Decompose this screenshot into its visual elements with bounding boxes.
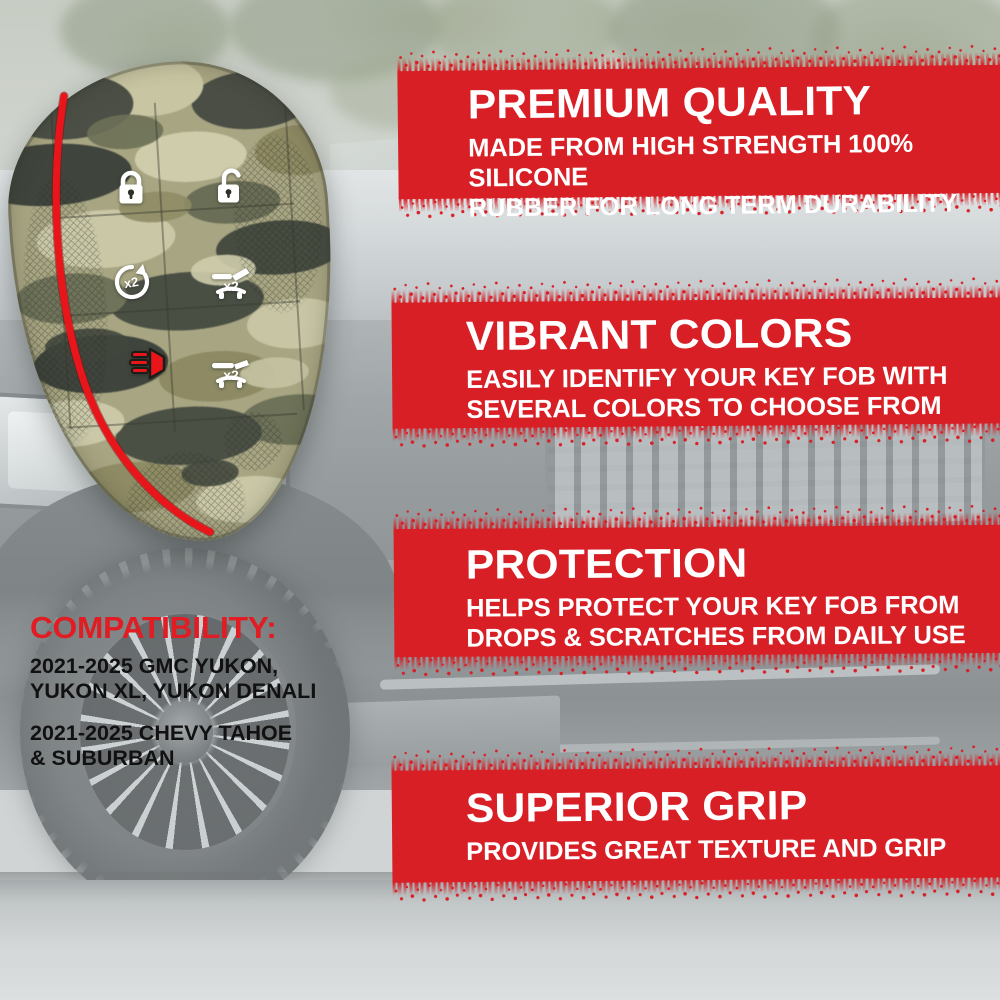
compatibility-line: & SUBURBAN bbox=[30, 746, 380, 771]
svg-text:x2: x2 bbox=[223, 278, 239, 294]
compatibility-line: 2021-2025 CHEVY TAHOE bbox=[30, 721, 380, 746]
feature-title: PREMIUM QUALITY bbox=[467, 79, 1000, 126]
liftgate-button[interactable]: x2 bbox=[206, 264, 256, 308]
compatibility-block: COMPATIBILITY: 2021-2025 GMC YUKON, YUKO… bbox=[30, 612, 380, 772]
fob-body bbox=[0, 53, 348, 552]
infographic-canvas: PREMIUM QUALITY MADE FROM HIGH STRENGTH … bbox=[0, 0, 1000, 1000]
feature-banner-premium-quality: PREMIUM QUALITY MADE FROM HIGH STRENGTH … bbox=[397, 65, 1000, 199]
lock-button[interactable] bbox=[114, 170, 148, 206]
feature-title: VIBRANT COLORS bbox=[466, 312, 967, 357]
feature-title: SUPERIOR GRIP bbox=[466, 784, 966, 829]
feature-banner-superior-grip: SUPERIOR GRIP PROVIDES GREAT TEXTURE AND… bbox=[392, 765, 1000, 882]
unlock-button[interactable] bbox=[212, 166, 248, 206]
compatibility-heading: COMPATIBILITY: bbox=[30, 612, 387, 643]
compatibility-entry: 2021-2025 CHEVY TAHOE & SUBURBAN bbox=[30, 721, 380, 771]
feature-line: SEVERAL COLORS TO CHOOSE FROM bbox=[466, 392, 948, 426]
compatibility-line: 2021-2025 GMC YUKON, bbox=[30, 654, 380, 679]
liftgate-glass-button[interactable]: x2 bbox=[206, 354, 256, 398]
feature-banner-protection: PROTECTION HELPS PROTECT YOUR KEY FOB FR… bbox=[394, 525, 1000, 657]
key-fob-cover: x2 x2 bbox=[14, 62, 334, 542]
feature-line: EASILY IDENTIFY YOUR KEY FOB WITH bbox=[466, 362, 948, 396]
compatibility-entry: 2021-2025 GMC YUKON, YUKON XL, YUKON DEN… bbox=[30, 654, 380, 704]
compatibility-line: YUKON XL, YUKON DENALI bbox=[30, 679, 380, 704]
svg-text:x2: x2 bbox=[123, 274, 140, 291]
feature-banner-vibrant-colors: VIBRANT COLORS EASILY IDENTIFY YOUR KEY … bbox=[391, 297, 1000, 428]
panic-alarm-button[interactable] bbox=[126, 344, 172, 382]
feature-line: RUBBER FOR LONG TERM DURABILITY bbox=[469, 188, 1000, 224]
feature-line: PROVIDES GREAT TEXTURE AND GRIP bbox=[466, 834, 946, 868]
feature-title: PROTECTION bbox=[466, 541, 986, 586]
feature-line: DROPS & SCRATCHES FROM DAILY USE bbox=[466, 621, 966, 654]
svg-text:x2: x2 bbox=[223, 367, 239, 383]
feature-line: MADE FROM HIGH STRENGTH 100% SILICONE bbox=[468, 129, 1000, 194]
pavement bbox=[0, 880, 1000, 1000]
feature-line: HELPS PROTECT YOUR KEY FOB FROM bbox=[466, 591, 966, 624]
remote-start-button[interactable]: x2 bbox=[110, 260, 154, 304]
